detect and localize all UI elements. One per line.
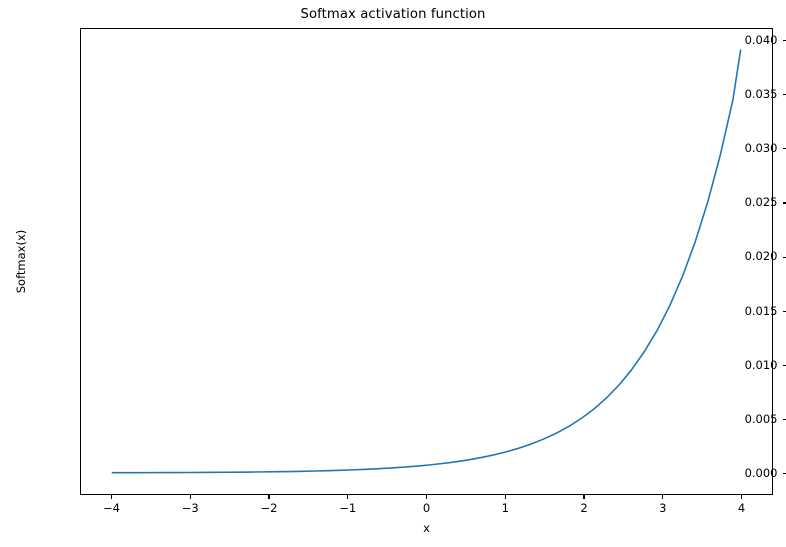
x-tick-mark [268, 495, 269, 499]
y-tick-mark [783, 202, 786, 203]
x-axis-label: x [80, 521, 773, 535]
y-tick-mark [783, 419, 786, 420]
y-tick-mark [783, 365, 786, 366]
y-tick-label: 0.015 [745, 306, 778, 318]
x-tick-mark [190, 495, 191, 499]
x-tick-mark [741, 495, 742, 499]
x-tick-label: 1 [502, 503, 509, 515]
x-tick-label: −1 [339, 503, 356, 515]
softmax-curve [112, 50, 740, 473]
x-tick-label: 0 [423, 503, 430, 515]
x-tick-label: −2 [261, 503, 278, 515]
x-tick-label: 4 [738, 503, 745, 515]
x-tick-mark [583, 495, 584, 499]
y-tick-label: 0.010 [745, 360, 778, 372]
y-tick-label: 0.030 [745, 143, 778, 155]
y-tick-label: 0.025 [745, 197, 778, 209]
chart-title: Softmax activation function [0, 7, 786, 22]
y-tick-label: 0.005 [745, 414, 778, 426]
y-tick-mark [783, 148, 786, 149]
x-tick-label: −4 [103, 503, 120, 515]
y-tick-mark [783, 94, 786, 95]
y-tick-mark [783, 40, 786, 41]
x-tick-mark [662, 495, 663, 499]
plot-canvas [81, 29, 772, 494]
x-tick-label: 2 [580, 503, 587, 515]
x-tick-mark [505, 495, 506, 499]
matplotlib-figure: Softmax activation function 0.0000.0050.… [0, 0, 786, 547]
plot-axes [80, 28, 773, 495]
y-tick-label: 0.020 [745, 251, 778, 263]
y-tick-label: 0.035 [745, 89, 778, 101]
y-tick-mark [783, 311, 786, 312]
y-tick-mark [783, 473, 786, 474]
x-tick-mark [347, 495, 348, 499]
x-tick-mark [111, 495, 112, 499]
y-tick-label: 0.000 [745, 468, 778, 480]
y-axis-label: Softmax(x) [10, 28, 32, 495]
y-tick-label: 0.040 [745, 35, 778, 47]
x-tick-label: −3 [182, 503, 199, 515]
y-tick-mark [783, 257, 786, 258]
x-tick-label: 3 [659, 503, 666, 515]
x-tick-mark [426, 495, 427, 499]
